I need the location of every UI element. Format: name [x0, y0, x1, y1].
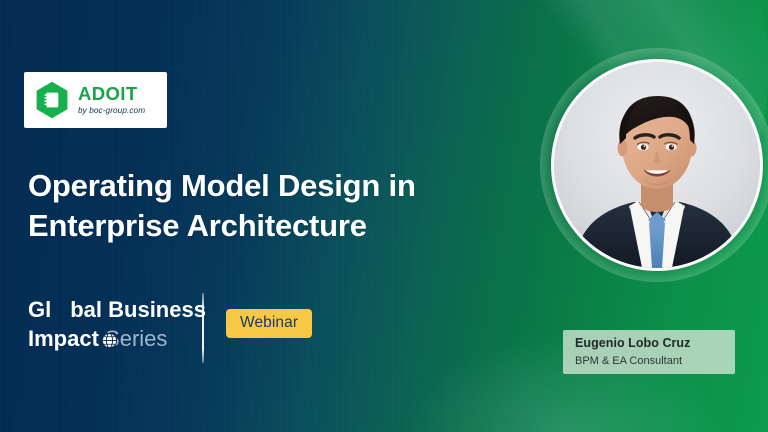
globe-icon	[52, 302, 69, 319]
speaker-name: Eugenio Lobo Cruz	[575, 336, 735, 352]
page-title-line-2: Enterprise Architecture	[28, 206, 528, 246]
logo-tagline: by boc-group.com	[78, 107, 145, 115]
status-badge[interactable]: Webinar	[226, 309, 312, 338]
speaker-role: BPM & EA Consultant	[575, 354, 735, 369]
series-lockup: Gl bal Business Impact Series	[28, 297, 206, 353]
series-text-gl: Gl	[28, 297, 51, 324]
series-text-bal-business: bal Business	[70, 297, 206, 324]
page-title-line-1: Operating Model Design in	[28, 166, 528, 206]
speaker-portrait	[554, 62, 760, 268]
speaker-name-card: Eugenio Lobo Cruz BPM & EA Consultant	[563, 330, 735, 374]
logo-title: ADOIT	[78, 85, 145, 104]
webinar-banner: ADOIT by boc-group.com Operating Model D…	[0, 0, 768, 432]
adoit-logo-card[interactable]: ADOIT by boc-group.com	[24, 72, 167, 128]
hexagon-document-icon	[35, 81, 69, 119]
logo-wordmark: ADOIT by boc-group.com	[78, 85, 145, 115]
vertical-divider	[202, 293, 204, 363]
series-line-1: Gl bal Business	[28, 297, 206, 324]
avatar	[551, 59, 763, 271]
page-title: Operating Model Design in Enterprise Arc…	[28, 166, 528, 247]
